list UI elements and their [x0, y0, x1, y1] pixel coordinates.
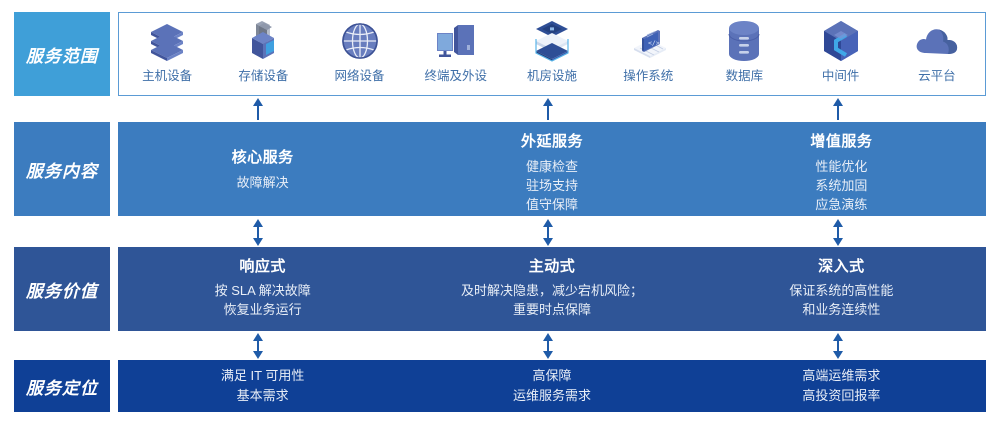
server-stack-icon — [148, 20, 186, 62]
column-line: 重要时点保障 — [513, 300, 591, 319]
position-column-premium[interactable]: 高端运维需求 高投资回报率 — [697, 360, 986, 412]
scope-item-label: 机房设施 — [527, 65, 577, 84]
position-panel: 满足 IT 可用性 基本需求 高保障 运维服务需求 高端运维需求 高投资回报率 — [118, 360, 986, 412]
connector-content-value-3 — [831, 219, 845, 246]
scope-item-label: 云平台 — [918, 65, 956, 84]
column-line: 健康检查 — [526, 157, 578, 176]
scope-panel: 主机设备 — [118, 12, 986, 96]
row-label-service-content: 服务内容 — [14, 122, 110, 216]
cube-middleware-icon — [821, 20, 861, 62]
column-line: 和业务连续性 — [802, 300, 880, 319]
column-line: 高保障 — [532, 366, 571, 386]
column-line: 高投资回报率 — [802, 386, 880, 406]
content-column-core[interactable]: 核心服务 故障解决 — [118, 122, 407, 216]
connector-value-position-3 — [831, 333, 845, 359]
globe-network-icon — [340, 20, 380, 62]
column-title: 响应式 — [239, 255, 286, 276]
column-line: 故障解决 — [237, 173, 289, 192]
scope-item-network[interactable]: 网络设备 — [317, 20, 403, 84]
column-title: 主动式 — [529, 255, 576, 276]
value-column-reactive[interactable]: 响应式 按 SLA 解决故障 恢复业务运行 — [118, 247, 407, 331]
value-column-deep[interactable]: 深入式 保证系统的高性能 和业务连续性 — [697, 247, 986, 331]
row-service-value: 服务价值 响应式 按 SLA 解决故障 恢复业务运行 主动式 及时解决隐患，减少… — [0, 247, 1000, 331]
scope-item-label: 存储设备 — [238, 65, 288, 84]
scope-item-cloud[interactable]: 云平台 — [894, 20, 980, 84]
column-line: 恢复业务运行 — [224, 300, 302, 319]
row-service-content: 服务内容 核心服务 故障解决 外延服务 健康检查 驻场支持 值守保障 增值服务 … — [0, 122, 1000, 216]
column-line: 保证系统的高性能 — [789, 281, 893, 300]
column-title: 深入式 — [818, 255, 865, 276]
column-line: 性能优化 — [815, 157, 867, 176]
code-laptop-icon: </> — [626, 20, 670, 62]
column-line: 驻场支持 — [526, 176, 578, 195]
scope-item-os[interactable]: </> 操作系统 — [605, 20, 691, 84]
position-column-basic[interactable]: 满足 IT 可用性 基本需求 — [118, 360, 407, 412]
value-column-proactive[interactable]: 主动式 及时解决隐患，减少宕机风险； 重要时点保障 — [407, 247, 696, 331]
scope-item-label: 操作系统 — [623, 65, 673, 84]
scope-item-label: 中间件 — [822, 65, 860, 84]
connector-scope-content-2 — [541, 98, 555, 120]
scope-item-label: 终端及外设 — [425, 65, 488, 84]
row-label-service-scope: 服务范围 — [14, 12, 110, 96]
connector-content-value-1 — [251, 219, 265, 246]
row-label-service-position: 服务定位 — [14, 360, 110, 412]
connector-value-position-1 — [251, 333, 265, 359]
data-center-rack-icon — [530, 20, 574, 62]
service-framework-diagram: 服务范围 — [0, 0, 1000, 424]
row-service-position: 服务定位 满足 IT 可用性 基本需求 高保障 运维服务需求 高端运维需求 高投… — [0, 360, 1000, 412]
column-line: 满足 IT 可用性 — [221, 366, 305, 386]
column-line: 基本需求 — [237, 386, 289, 406]
content-column-valueadd[interactable]: 增值服务 性能优化 系统加固 应急演练 — [697, 122, 986, 216]
column-line: 值守保障 — [526, 195, 578, 214]
connector-scope-content-1 — [251, 98, 265, 120]
scope-item-database[interactable]: 数据库 — [701, 20, 787, 84]
connector-value-position-2 — [541, 333, 555, 359]
scope-item-storage[interactable]: 存储设备 — [220, 20, 306, 84]
column-title: 增值服务 — [810, 130, 872, 151]
column-line: 系统加固 — [815, 176, 867, 195]
row-service-scope: 服务范围 — [0, 12, 1000, 96]
column-line: 运维服务需求 — [513, 386, 591, 406]
storage-array-icon — [244, 20, 282, 62]
value-panel: 响应式 按 SLA 解决故障 恢复业务运行 主动式 及时解决隐患，减少宕机风险；… — [118, 247, 986, 331]
scope-item-middleware[interactable]: 中间件 — [798, 20, 884, 84]
scope-item-label: 数据库 — [726, 65, 764, 84]
scope-item-label: 主机设备 — [142, 65, 192, 84]
column-line: 按 SLA 解决故障 — [215, 281, 311, 300]
scope-item-endpoint[interactable]: 终端及外设 — [413, 20, 499, 84]
content-column-extended[interactable]: 外延服务 健康检查 驻场支持 值守保障 — [407, 122, 696, 216]
scope-item-label: 网络设备 — [335, 65, 385, 84]
database-cylinder-icon — [726, 20, 762, 62]
column-line: 高端运维需求 — [802, 366, 880, 386]
row-label-service-value: 服务价值 — [14, 247, 110, 331]
svg-text:</>: </> — [648, 39, 660, 47]
scope-item-host[interactable]: 主机设备 — [124, 20, 210, 84]
cloud-icon — [914, 20, 960, 62]
content-panel: 核心服务 故障解决 外延服务 健康检查 驻场支持 值守保障 增值服务 性能优化 … — [118, 122, 986, 216]
column-title: 外延服务 — [521, 130, 583, 151]
column-line: 应急演练 — [815, 195, 867, 214]
column-line: 及时解决隐患，减少宕机风险； — [461, 281, 643, 300]
desktop-pc-icon — [434, 20, 478, 62]
connector-content-value-2 — [541, 219, 555, 246]
connector-scope-content-3 — [831, 98, 845, 120]
column-title: 核心服务 — [232, 146, 294, 167]
position-column-assured[interactable]: 高保障 运维服务需求 — [407, 360, 696, 412]
scope-item-facility[interactable]: 机房设施 — [509, 20, 595, 84]
